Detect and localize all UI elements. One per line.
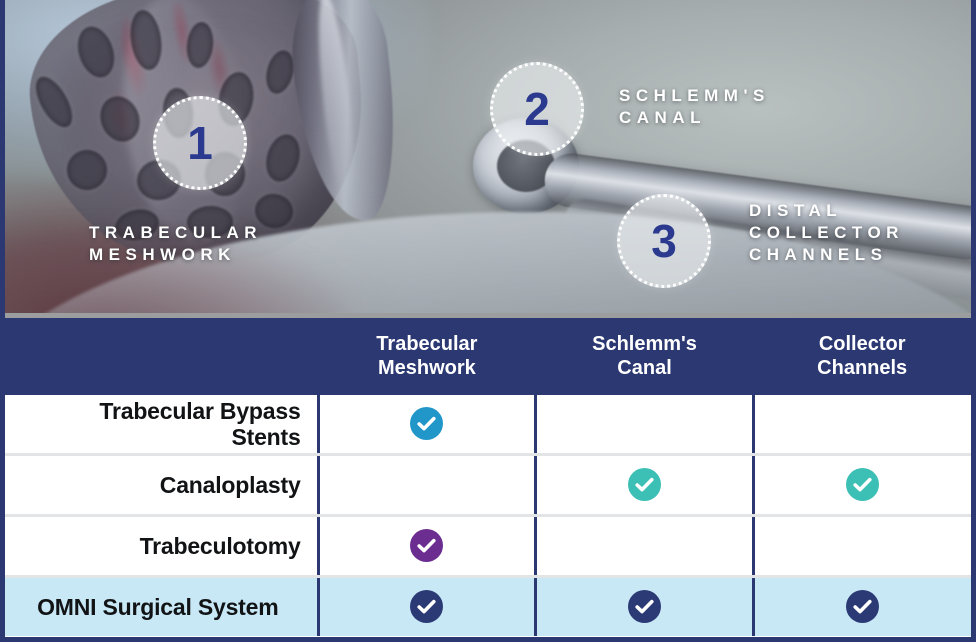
label-trabecular-line-2: MESHWORK [89,244,262,266]
label-distal-line-3: CHANNELS [749,244,904,266]
table-row: Trabeculotomy [5,515,971,576]
row-label-0: Trabecular BypassStents [5,395,318,455]
header-schlemms-canal-line-1: Schlemm's [542,332,748,356]
row-label-3: OMNI Surgical System [5,576,318,636]
header-collector-channels-line-2: Channels [759,356,965,380]
header-collector-channels-line-1: Collector [759,332,965,356]
label-distal-line-1: DISTAL [749,200,904,222]
table-header: Trabecular Meshwork Schlemm's Canal Coll… [5,318,971,395]
cell-trabecular-meshwork-0 [318,395,536,455]
callout-marker-3[interactable]: 3 [617,194,711,288]
table-row: Canaloplasty [5,454,971,515]
callout-number-2: 2 [524,86,550,132]
row-label-line-1: OMNI Surgical System [5,594,311,620]
row-label-line-1: Trabeculotomy [5,533,301,559]
table-header-row: Trabecular Meshwork Schlemm's Canal Coll… [5,318,971,395]
header-trabecular-meshwork-line-1: Trabecular [324,332,530,356]
illustration-bottom-strip [5,313,971,318]
callout-number-1: 1 [187,120,213,166]
header-collector-channels: Collector Channels [753,318,971,395]
callout-marker-2[interactable]: 2 [490,62,584,156]
header-schlemms-canal-line-2: Canal [542,356,748,380]
check-icon [410,529,443,562]
row-label-line-1: Canaloplasty [5,472,301,498]
label-schlemms-line-1: SCHLEMM'S [619,85,770,107]
label-distal-line-2: COLLECTOR [749,222,904,244]
label-trabecular-meshwork: TRABECULAR MESHWORK [89,222,262,266]
table-row: OMNI Surgical System [5,576,971,636]
header-trabecular-meshwork: Trabecular Meshwork [318,318,536,395]
label-schlemms-line-2: CANAL [619,107,770,129]
callout-marker-1[interactable]: 1 [153,96,247,190]
label-schlemms-canal: SCHLEMM'S CANAL [619,85,770,129]
check-icon [410,407,443,440]
infographic-container: 1 2 3 TRABECULAR MESHWORK SCHLEMM'S CANA… [0,0,976,642]
cell-trabecular-meshwork-1 [318,454,536,515]
cell-collector-channels-2 [753,515,971,576]
label-distal-collector-channels: DISTAL COLLECTOR CHANNELS [749,200,904,266]
callout-number-3: 3 [651,218,677,264]
cell-trabecular-meshwork-3 [318,576,536,636]
table-body: Trabecular BypassStentsCanaloplastyTrabe… [5,395,971,636]
check-icon [846,468,879,501]
check-icon [846,590,879,623]
check-icon [410,590,443,623]
cell-schlemms-canal-3 [536,576,754,636]
cell-collector-channels-0 [753,395,971,455]
header-schlemms-canal: Schlemm's Canal [536,318,754,395]
row-label-line-1: Trabecular Bypass [5,398,301,424]
cell-collector-channels-3 [753,576,971,636]
row-label-line-2: Stents [5,424,301,450]
header-trabecular-meshwork-line-2: Meshwork [324,356,530,380]
check-icon [628,468,661,501]
table-row: Trabecular BypassStents [5,395,971,455]
row-label-1: Canaloplasty [5,454,318,515]
eye-anatomy-illustration: 1 2 3 TRABECULAR MESHWORK SCHLEMM'S CANA… [5,0,971,318]
cell-trabecular-meshwork-2 [318,515,536,576]
label-trabecular-line-1: TRABECULAR [89,222,262,244]
cell-schlemms-canal-0 [536,395,754,455]
cell-collector-channels-1 [753,454,971,515]
check-icon [628,590,661,623]
row-label-2: Trabeculotomy [5,515,318,576]
cell-schlemms-canal-1 [536,454,754,515]
header-procedure-blank [5,318,318,395]
cell-schlemms-canal-2 [536,515,754,576]
procedure-comparison-table: Trabecular Meshwork Schlemm's Canal Coll… [5,318,971,636]
